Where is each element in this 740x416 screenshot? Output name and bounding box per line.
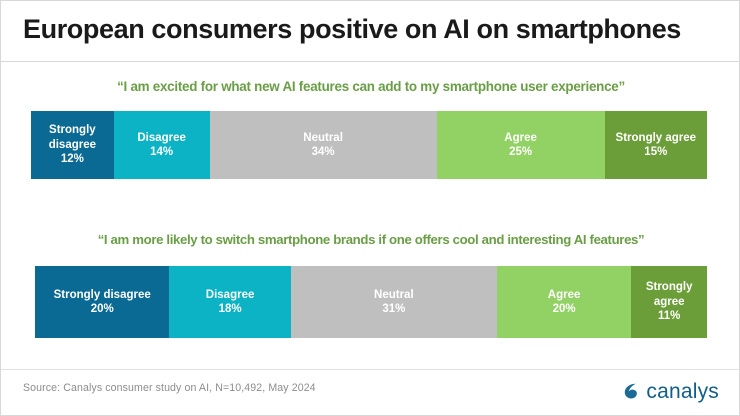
canalys-logo: canalys [620,380,719,402]
segment-value: 20% [553,302,576,316]
bar-segment-disagree: Disagree14% [114,111,210,179]
segment-label: Disagree [137,131,186,145]
bar-segment-strongly-disagree: Strongly disagree20% [35,266,169,338]
segment-label: Strongly disagree [33,123,112,152]
bar-segment-strongly-agree: Strongly agree15% [605,111,707,179]
chart-1-stacked-bar: Strongly disagree12%Disagree14%Neutral34… [31,111,707,179]
segment-value: 31% [382,302,405,316]
bar-segment-agree: Agree20% [497,266,631,338]
segment-label: Neutral [374,288,414,302]
page-title: European consumers positive on AI on sma… [23,15,723,45]
bar-segment-disagree: Disagree18% [169,266,290,338]
segment-label: Disagree [206,288,255,302]
bar-segment-agree: Agree25% [437,111,605,179]
segment-label: Strongly agree [616,131,697,145]
slide: European consumers positive on AI on sma… [0,0,740,416]
segment-value: 15% [644,145,667,159]
segment-value: 18% [219,302,242,316]
bar-segment-neutral: Neutral34% [210,111,437,179]
source-note: Source: Canalys consumer study on AI, N=… [23,382,316,394]
segment-value: 34% [312,145,335,159]
footer-divider [1,369,740,370]
segment-label: Agree [548,288,581,302]
bar-segment-strongly-disagree: Strongly disagree12% [31,111,114,179]
bar-segment-strongly-agree: Strongly agree11% [631,266,707,338]
chart-2-subtitle: “I am more likely to switch smartphone b… [1,232,740,248]
segment-label: Strongly disagree [54,288,151,302]
segment-label: Agree [504,131,537,145]
segment-value: 12% [61,152,84,166]
bar-segment-neutral: Neutral31% [291,266,497,338]
canalys-swoosh-icon [620,380,642,402]
segment-value: 25% [509,145,532,159]
title-divider [1,61,740,62]
segment-label: Neutral [303,131,343,145]
segment-value: 11% [658,309,680,323]
chart-1-subtitle: “I am excited for what new AI features c… [1,79,740,95]
chart-2-stacked-bar: Strongly disagree20%Disagree18%Neutral31… [35,266,707,338]
segment-value: 20% [91,302,114,316]
segment-value: 14% [150,145,173,159]
canalys-wordmark: canalys [646,381,719,402]
segment-label: Strongly agree [633,280,705,309]
